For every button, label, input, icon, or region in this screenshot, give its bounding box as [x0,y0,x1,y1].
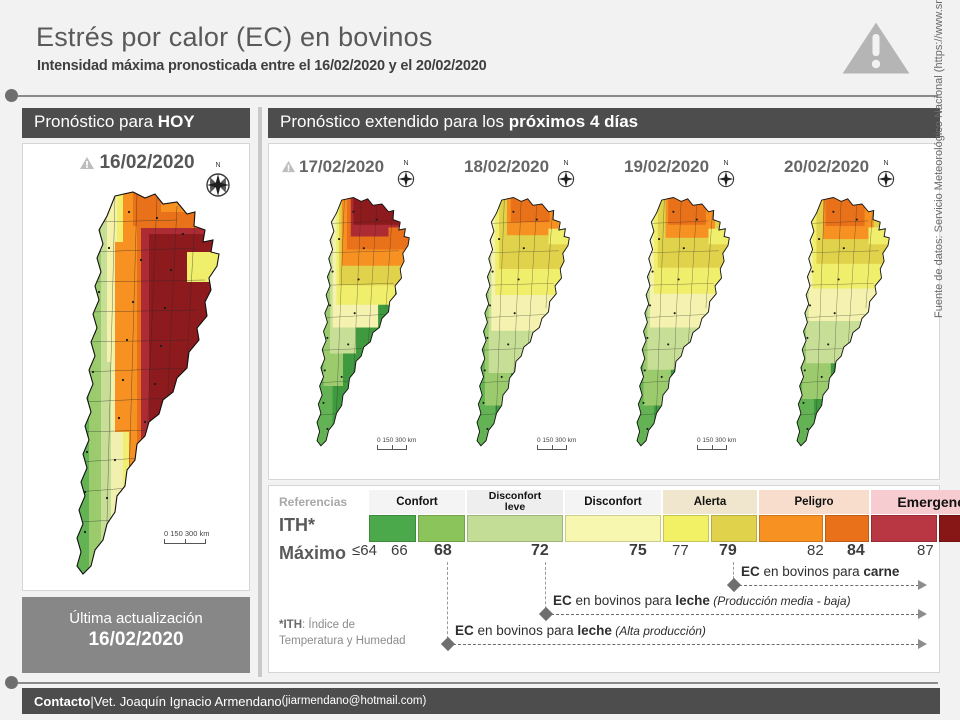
legend-tick-6: 79 [719,542,737,560]
legend-swatch-2 [467,515,563,542]
legend-swatch-7 [825,515,869,542]
scale-bar-day-19: 0 150 300 km [697,437,736,450]
legend-category-label: Confort [396,496,438,508]
page-title: Estrés por calor (EC) en bovinos [36,22,433,53]
legend-swatch-0 [369,515,416,542]
legend-swatch-6 [759,515,823,542]
annotation-arrowhead-carne [918,580,927,590]
legend-footnote-rest: : Índice de [302,619,355,631]
annotation-strong: leche [577,623,612,638]
legend-tick-5: 77 [672,542,689,559]
scale-bar-label: 0 150 300 km [537,437,576,444]
annotation-prefix: EC [455,623,474,638]
annotation-arrowhead-leche-alta [918,639,927,649]
compass-north-label: N [215,162,220,169]
decor-dot-bottom [5,676,18,689]
panel-header-today-strong: HOY [158,112,195,131]
annotation-prefix: EC [741,564,760,579]
legend-category-label: Alerta [694,496,727,508]
annotation-marker-carne [727,578,741,592]
legend-tick-2: 68 [434,542,452,560]
annotation-line-leche-alta [453,644,919,645]
panel-header-today: Pronóstico para HOY [22,108,250,138]
annotation-label-carne: EC en bovinos para carne [741,564,899,579]
decor-dot-top [5,89,18,102]
annotation-prefix: EC [553,593,572,608]
scale-bar-label: 0 150 300 km [697,437,736,444]
warning-triangle-small-icon [79,156,95,170]
legend-tick-7: 82 [807,542,824,559]
warning-triangle-icon [834,14,918,80]
scale-bar-today-label: 0 150 300 km [164,529,209,538]
legend-category-label: Peligro [795,496,834,508]
legend-category-label: Disconfort [584,496,642,508]
legend-tick-3: 72 [531,542,549,560]
legend-category-label: Emergencia [897,495,960,510]
legend-tick-1: 66 [391,542,408,559]
legend-swatch-3 [565,515,661,542]
legend-category-label: Disconfort leve [489,491,542,513]
map-day-17 [291,176,421,466]
annotation-arrowhead-leche-media [918,609,927,619]
annotation-line-carne [739,585,919,586]
annotation-mid: en bovinos para [572,593,676,608]
panel-header-extended-strong: próximos 4 días [509,112,638,131]
legend-swatch-8 [871,515,937,542]
map-day-19 [611,176,741,466]
legend-footnote-line2: Temperatura y Humedad [279,635,406,647]
decor-rail-top [18,95,938,97]
last-update-date: 16/02/2020 [22,629,250,651]
legend-max-label: Máximo [279,543,346,564]
annotation-strong: carne [863,564,899,579]
legend-category-emergencia: Emergencia [871,490,960,514]
compass-rose-today: N [205,172,231,198]
page-header: Estrés por calor (EC) en bovinos Intensi… [0,0,960,92]
compass-north-label: N [403,160,408,167]
annotation-label-leche-media: EC en bovinos para leche (Producción med… [553,593,851,608]
footer-name: Vet. Joaquín Ignacio Armendano [94,694,282,709]
annotation-mid: en bovinos para [474,623,578,638]
panel-separator [258,107,262,677]
data-source-label: Fuente de datos: Servicio Meteorológico … [933,0,945,318]
today-forecast-card: 16/02/2020 [22,143,250,591]
extended-date-0: 17/02/2020 [281,157,384,177]
annotation-line-leche-media [551,614,919,615]
annotation-marker-leche-alta [441,637,455,651]
footer-contact-bar: Contacto | Vet. Joaquín Ignacio Armendan… [22,688,940,714]
legend-swatch-9 [939,515,960,542]
legend-tick-8: 84 [847,542,865,560]
today-date-text: 16/02/2020 [99,152,194,173]
guide-line-68 [447,562,448,644]
compass-rose-day-18: N [557,170,575,188]
page-subtitle: Intensidad máxima pronosticada entre el … [37,58,486,74]
annotation-italic: (Producción media - baja) [710,594,851,608]
compass-rose-day-19: N [717,170,735,188]
legend-swatch-4 [663,515,709,542]
legend-category-confort: Confort [369,490,465,514]
legend-footnote-strong: *ITH [279,619,302,631]
extended-forecast-card: 17/02/2020 18/02/2020 19/02/2020 20/02/2… [268,143,940,480]
legend-references-label: Referencias [279,495,347,509]
compass-rose-day-20: N [877,170,895,188]
last-update-label: Última actualización [22,597,250,627]
panel-header-extended: Pronóstico extendido para los próximos 4… [268,108,940,138]
annotation-strong: leche [675,593,710,608]
footer-contact-label: Contacto [34,694,90,709]
compass-north-label: N [883,160,888,167]
last-update-card: Última actualización 16/02/2020 [22,597,250,673]
legend-category-disconfort: Disconfort [565,490,661,514]
compass-north-label: N [563,160,568,167]
extended-date-3: 20/02/2020 [784,157,869,177]
compass-rose-day-17: N [397,170,415,188]
warning-triangle-small-icon [281,160,296,173]
compass-north-label: N [723,160,728,167]
legend-category-disconfort-leve: Disconfort leve [467,490,563,514]
decor-rail-bottom [18,682,938,684]
panel-header-extended-prefix: Pronóstico extendido para los [280,112,509,131]
legend-ith-label: ITH* [279,515,315,536]
extended-date-1: 18/02/2020 [464,157,549,177]
extended-date-0-text: 17/02/2020 [299,157,384,176]
legend-tick-9: 87 [917,542,934,559]
annotation-mid: en bovinos para [760,564,864,579]
annotation-label-leche-alta: EC en bovinos para leche (Alta producció… [455,623,706,638]
legend-tick-0: ≤64 [352,542,377,559]
scale-bar-day-18: 0 150 300 km [537,437,576,450]
legend-swatch-1 [418,515,465,542]
map-today [37,182,237,582]
map-day-18 [451,176,581,466]
legend-category-alerta: Alerta [663,490,757,514]
legend-card: Referencias ITH* Máximo Confort Disconfo… [268,485,940,673]
annotation-italic: (Alta producción) [612,624,706,638]
panel-header-today-prefix: Pronóstico para [34,112,158,131]
legend-tick-4: 75 [629,542,647,560]
map-day-20 [771,176,901,466]
scale-bar-day-17: 0 150 300 km [377,437,416,450]
scale-bar-label: 0 150 300 km [377,437,416,444]
annotation-marker-leche-media [539,607,553,621]
footer-email[interactable]: (jiarmendano@hotmail.com) [282,695,427,707]
legend-category-peligro: Peligro [759,490,869,514]
legend-swatch-5 [711,515,757,542]
extended-date-2: 19/02/2020 [624,157,709,177]
scale-bar-today: 0 150 300 km [164,529,209,544]
legend-footnote: *ITH: Índice de Temperatura y Humedad [279,618,406,649]
